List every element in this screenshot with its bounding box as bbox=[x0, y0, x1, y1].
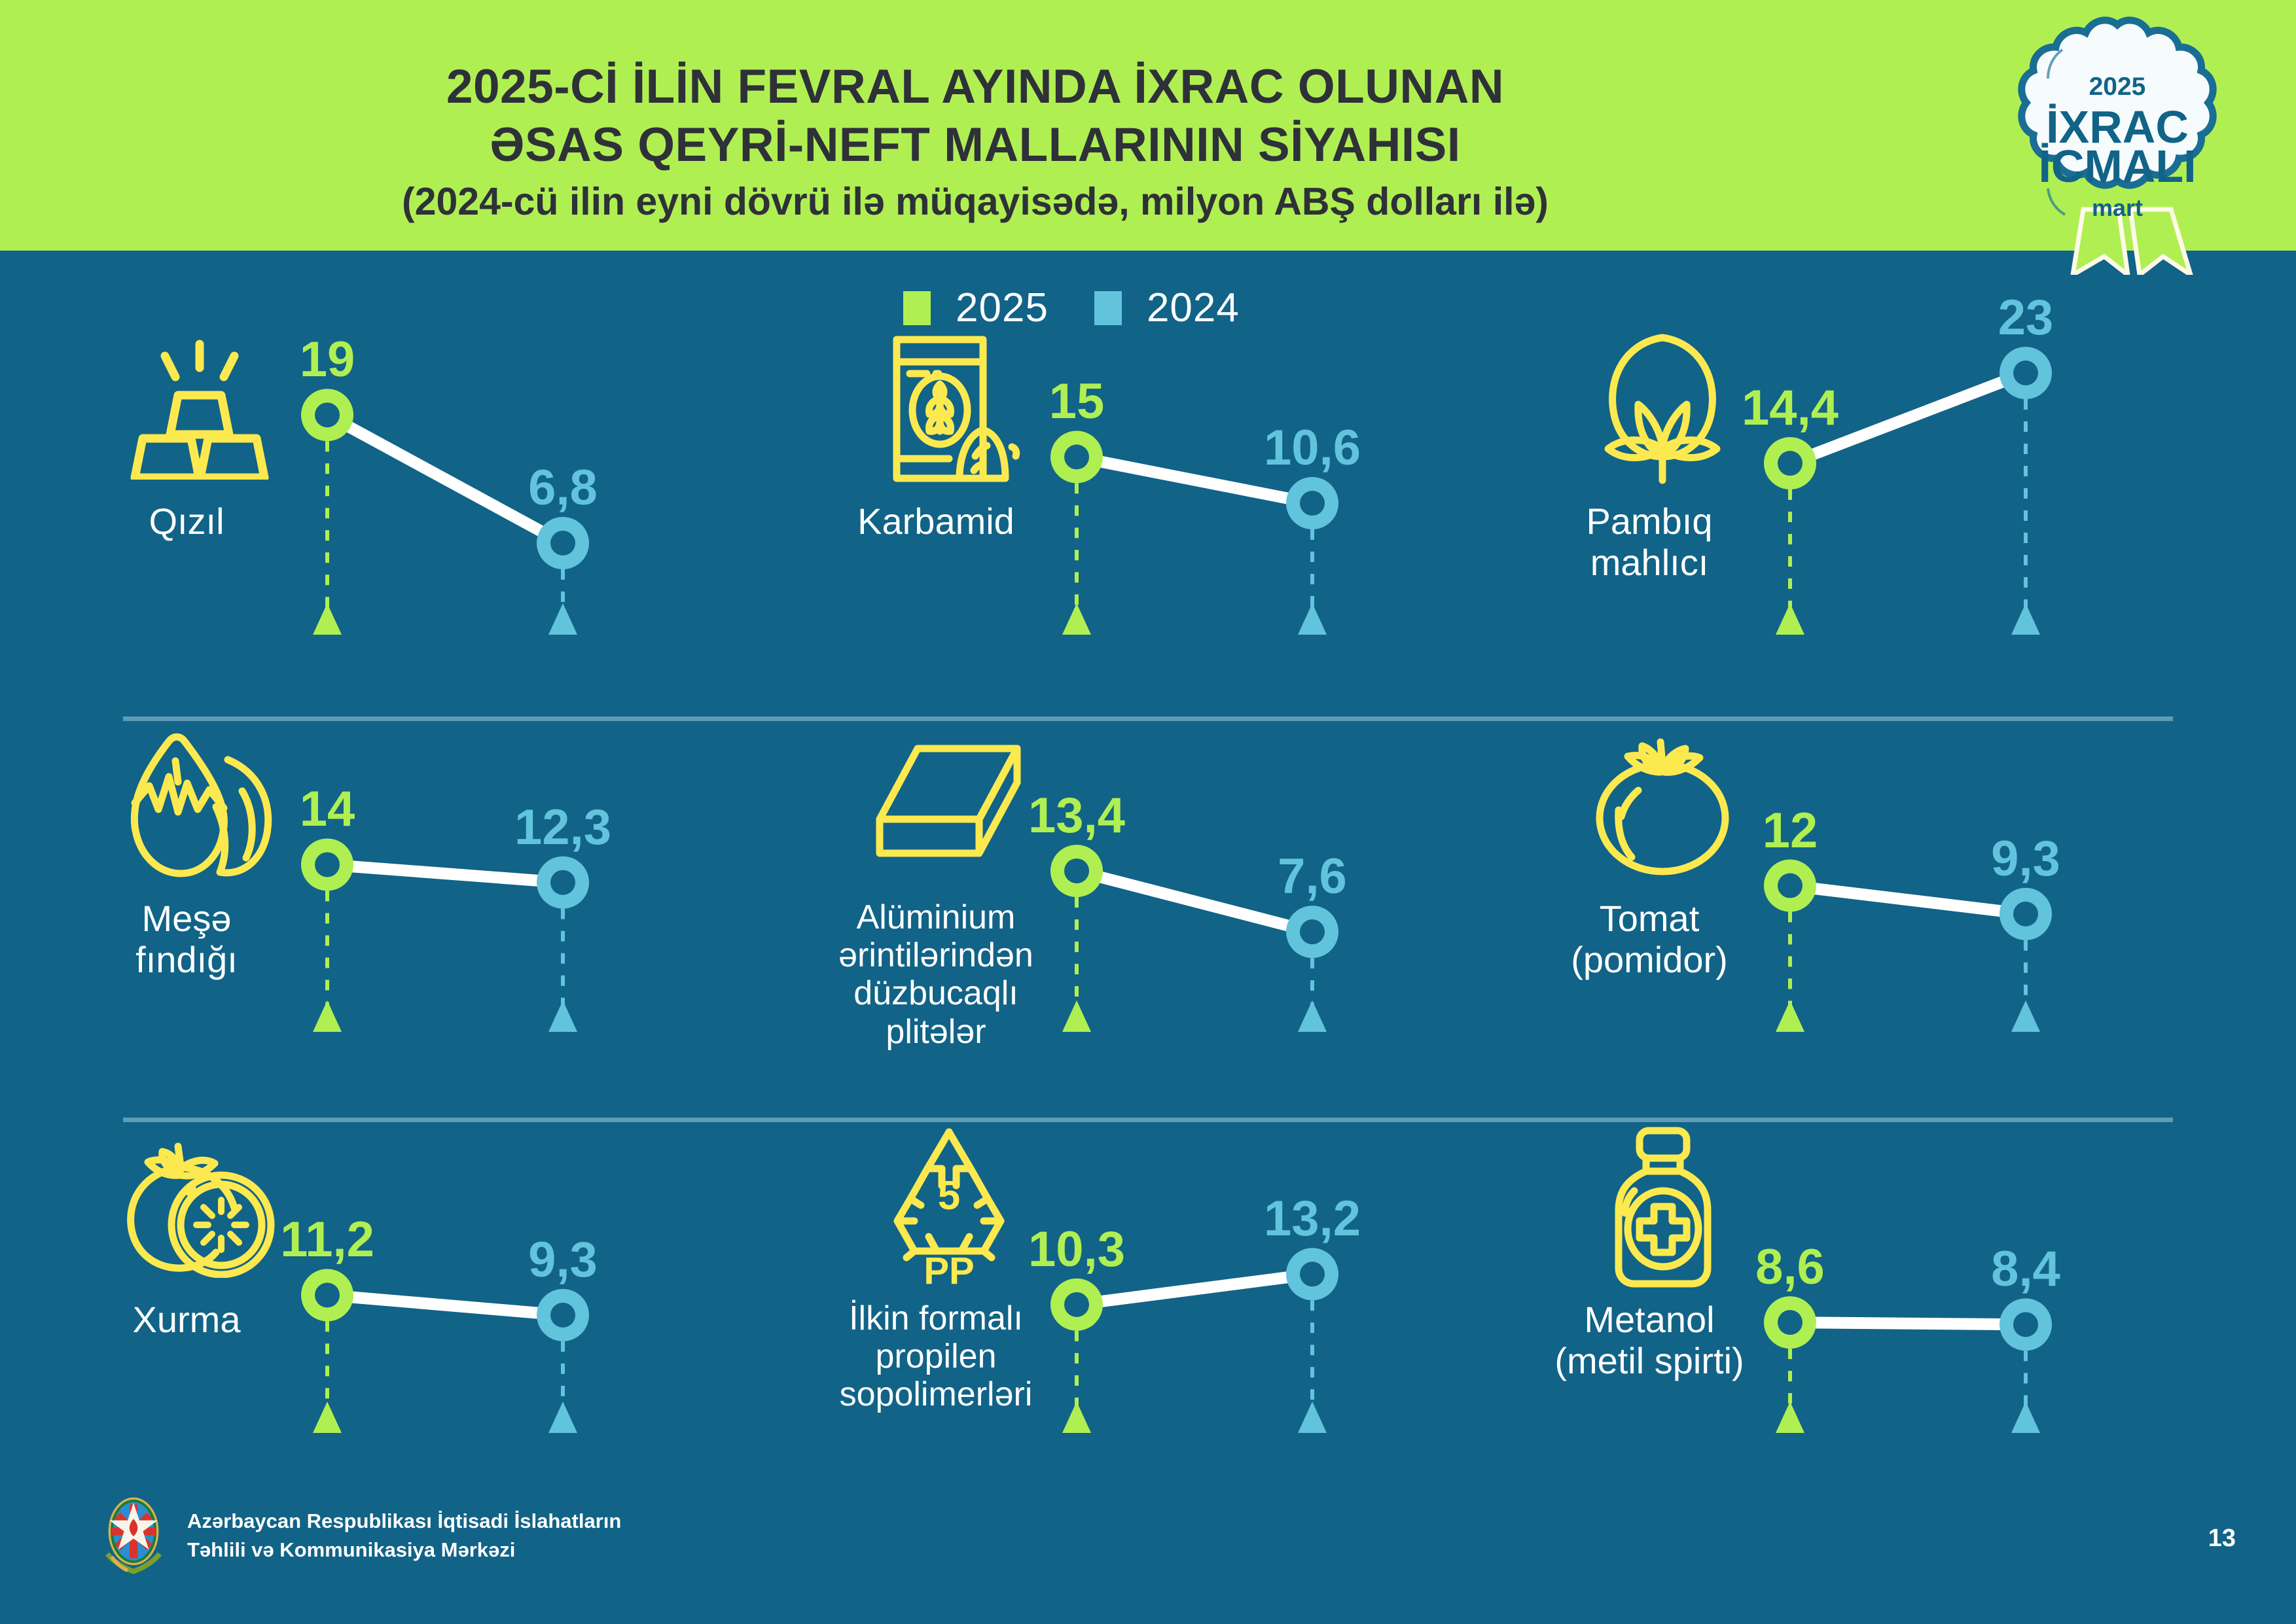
slope-plot: 129,3 bbox=[1751, 724, 2248, 1104]
legend-entry-2025: 2025 bbox=[903, 285, 1049, 331]
data-point-marker bbox=[537, 1289, 589, 1341]
data-point-marker bbox=[1286, 906, 1338, 958]
data-point-marker bbox=[2000, 1298, 2052, 1350]
gold-bars-icon bbox=[118, 327, 281, 491]
value-2025: 8,6 bbox=[1755, 1239, 1825, 1296]
footer: Azərbaycan Respublikası İqtisadi İslahat… bbox=[97, 1497, 621, 1574]
azerbaijan-emblem-icon bbox=[97, 1497, 170, 1574]
slope-plot: 196,8 bbox=[288, 327, 785, 707]
value-2024: 12,3 bbox=[514, 799, 611, 856]
commodity-cell: Meşəfındığı1412,3 bbox=[72, 724, 792, 1104]
legend-label-2024: 2024 bbox=[1147, 285, 1240, 331]
data-point-marker bbox=[1764, 437, 1816, 489]
legend-entry-2024: 2024 bbox=[1094, 285, 1240, 331]
commodity-cell: Pambıqmahlıcı14,423 bbox=[1535, 327, 2255, 707]
value-2024: 6,8 bbox=[528, 459, 598, 516]
axis-marker-triangle bbox=[548, 1402, 577, 1433]
row-divider bbox=[123, 1118, 2173, 1122]
slope-plot: 14,423 bbox=[1751, 327, 2248, 707]
commodity-grid: Qızıl196,8 Karbamid1510,6 bbox=[0, 327, 2296, 1466]
axis-marker-triangle bbox=[1298, 603, 1327, 635]
hazelnut-icon bbox=[118, 724, 281, 888]
data-point-marker bbox=[301, 838, 353, 891]
title-subtitle: (2024-cü ilin eyni dövrü ilə müqayisədə,… bbox=[0, 178, 1950, 226]
value-2024: 9,3 bbox=[528, 1231, 598, 1288]
value-2025: 15 bbox=[1049, 373, 1105, 430]
axis-marker-triangle bbox=[1062, 1402, 1091, 1433]
title-line-2: ƏSAS QEYRİ-NEFT MALLARININ SİYAHISI bbox=[0, 116, 1950, 174]
value-2024: 10,6 bbox=[1264, 419, 1361, 476]
data-point-marker bbox=[1050, 845, 1103, 897]
axis-marker-triangle bbox=[1776, 1402, 1804, 1433]
data-point-marker bbox=[301, 389, 353, 441]
commodity-cell: 5 PP İlkin formalıpropilensopolimerləri1… bbox=[821, 1125, 1541, 1505]
data-point-marker bbox=[1050, 1279, 1103, 1331]
axis-marker-triangle bbox=[2011, 1000, 2040, 1032]
connector-line bbox=[1790, 886, 2026, 914]
row-divider bbox=[123, 716, 2173, 721]
data-point-marker bbox=[537, 856, 589, 909]
slope-plot: 8,68,4 bbox=[1751, 1125, 2248, 1505]
legend-swatch-2025 bbox=[903, 291, 931, 325]
axis-marker-triangle bbox=[1776, 603, 1804, 635]
value-2024: 8,4 bbox=[1991, 1241, 2060, 1297]
value-2024: 13,2 bbox=[1264, 1190, 1361, 1247]
value-2025: 10,3 bbox=[1028, 1221, 1125, 1278]
data-point-marker bbox=[1286, 1248, 1338, 1300]
value-2025: 13,4 bbox=[1028, 787, 1125, 844]
footer-org-line-1: Azərbaycan Respublikası İqtisadi İslahat… bbox=[187, 1507, 621, 1536]
commodity-row: Qızıl196,8 Karbamid1510,6 bbox=[0, 327, 2296, 707]
connector-line bbox=[1790, 1322, 2026, 1324]
data-point-marker bbox=[301, 1269, 353, 1321]
slope-plot: 1510,6 bbox=[1037, 327, 1535, 707]
ixrac-icmali-badge: 2025 İXRAC İCMALI mart bbox=[2000, 13, 2235, 275]
legend: 2025 2024 bbox=[903, 285, 1240, 331]
page-title: 2025-Cİ İLİN FEVRAL AYINDA İXRAC OLUNAN … bbox=[0, 58, 1950, 226]
value-2025: 11,2 bbox=[280, 1211, 374, 1268]
title-line-1: 2025-Cİ İLİN FEVRAL AYINDA İXRAC OLUNAN bbox=[0, 58, 1950, 116]
connector-line bbox=[327, 415, 563, 543]
svg-text:PP: PP bbox=[924, 1250, 974, 1289]
axis-marker-triangle bbox=[1776, 1000, 1804, 1032]
slope-plot: 13,47,6 bbox=[1037, 724, 1535, 1104]
axis-marker-triangle bbox=[2011, 1402, 2040, 1433]
slope-plot: 10,313,2 bbox=[1037, 1125, 1535, 1505]
cotton-boll-icon bbox=[1586, 327, 1740, 491]
data-point-marker bbox=[2000, 347, 2052, 399]
page-number: 13 bbox=[2208, 1525, 2236, 1553]
badge-line-2: İCMALI bbox=[2038, 141, 2196, 192]
axis-marker-triangle bbox=[313, 1402, 342, 1433]
footer-org-text: Azərbaycan Respublikası İqtisadi İslahat… bbox=[187, 1507, 621, 1564]
data-point-marker bbox=[537, 517, 589, 569]
commodity-cell: Tomat(pomidor)129,3 bbox=[1535, 724, 2255, 1104]
commodity-cell: Karbamid1510,6 bbox=[821, 327, 1541, 707]
axis-marker-triangle bbox=[313, 1000, 342, 1032]
value-2025: 12 bbox=[1763, 802, 1818, 859]
svg-text:5: 5 bbox=[937, 1173, 960, 1218]
axis-marker-triangle bbox=[1062, 1000, 1091, 1032]
value-2025: 14,4 bbox=[1742, 380, 1839, 436]
axis-marker-triangle bbox=[1298, 1402, 1327, 1433]
connector-line bbox=[1077, 1274, 1312, 1305]
data-point-marker bbox=[1050, 431, 1103, 483]
fertilizer-bag-icon bbox=[876, 327, 1023, 491]
commodity-cell: Xurma11,29,3 bbox=[72, 1125, 792, 1505]
data-point-marker bbox=[1764, 1296, 1816, 1349]
connector-line bbox=[327, 864, 563, 882]
tomato-icon bbox=[1587, 724, 1738, 888]
connector-line bbox=[327, 1295, 563, 1315]
commodity-cell: Qızıl196,8 bbox=[72, 327, 792, 707]
slope-plot: 11,29,3 bbox=[288, 1125, 785, 1505]
slope-plot: 1412,3 bbox=[288, 724, 785, 1104]
commodity-row: Meşəfındığı1412,3 Alüminiumərintilərində… bbox=[0, 724, 2296, 1104]
persimmon-icon bbox=[118, 1125, 281, 1289]
connector-line bbox=[1077, 871, 1312, 932]
value-2024: 23 bbox=[1998, 289, 2054, 346]
commodity-cell: Alüminiumərintilərindəndüzbucaqlıplitələ… bbox=[821, 724, 1541, 1104]
value-2025: 19 bbox=[300, 331, 355, 388]
data-point-marker bbox=[2000, 888, 2052, 940]
footer-org-line-2: Təhlili və Kommunikasiya Mərkəzi bbox=[187, 1536, 621, 1564]
axis-marker-triangle bbox=[1298, 1000, 1327, 1032]
commodity-cell: Metanol(metil spirti)8,68,4 bbox=[1535, 1125, 2255, 1505]
methanol-bottle-icon bbox=[1605, 1125, 1720, 1289]
value-2025: 14 bbox=[300, 781, 355, 838]
axis-marker-triangle bbox=[1062, 603, 1091, 635]
legend-label-2025: 2025 bbox=[956, 285, 1049, 331]
badge-year: 2025 bbox=[2089, 73, 2146, 101]
legend-swatch-2024 bbox=[1094, 291, 1122, 325]
aluminium-slab-icon bbox=[870, 724, 1028, 888]
axis-marker-triangle bbox=[548, 603, 577, 635]
commodity-row: Xurma11,29,3 5 PP İlkin formalıpropilens… bbox=[0, 1125, 2296, 1505]
value-2024: 7,6 bbox=[1278, 848, 1347, 905]
axis-marker-triangle bbox=[548, 1000, 577, 1032]
axis-marker-triangle bbox=[2011, 603, 2040, 635]
pp-recycle-icon: 5 PP bbox=[879, 1125, 1020, 1289]
data-point-marker bbox=[1764, 860, 1816, 912]
data-point-marker bbox=[1286, 477, 1338, 529]
axis-marker-triangle bbox=[313, 603, 342, 635]
value-2024: 9,3 bbox=[1991, 830, 2060, 887]
badge-month: mart bbox=[2092, 194, 2143, 221]
